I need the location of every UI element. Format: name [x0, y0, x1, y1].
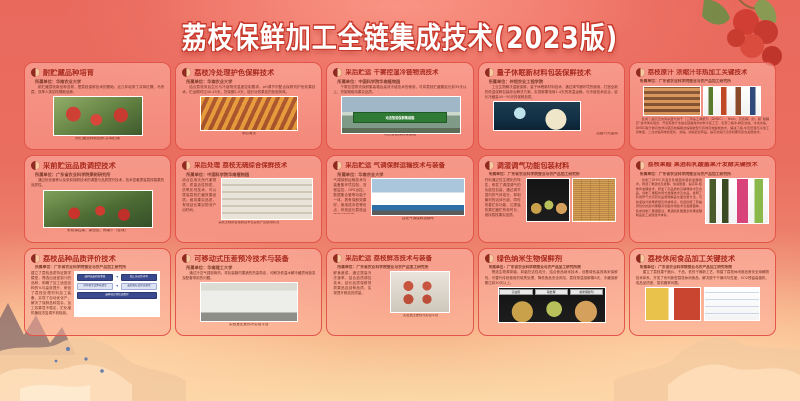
card-11-unit: 所属单位：华南理工大学: [186, 265, 315, 270]
card-6-header: 采后处理 荔枝无硫综合保鲜技术: [182, 161, 315, 170]
card-7-header: 采后贮运 气调保鲜运输技术与装备: [333, 161, 466, 170]
card-3-photo: [493, 101, 581, 131]
card-14-photo-right: [704, 287, 760, 321]
moon-icon: [31, 68, 40, 77]
card-9-title: 荔枝果醋 果酒和乳酸菌果汁发酵关键技术: [648, 162, 758, 168]
card-1-caption: 采后清洗: [242, 132, 256, 136]
card-4[interactable]: 荔枝原汁 浓缩汁非热加工关键技术 所属单位：广东省农业科学院蚕业与农产品加工研究…: [629, 62, 776, 150]
card-1-unit: 所属单位：华南农业大学: [186, 79, 315, 84]
card-13-description: 筛选生物源抑菌、抑菌兑活性成分，结合食品纳米技术，创基绿色高效纳米保鲜剂，可替代…: [485, 270, 618, 285]
card-10-body: 建立了荔枝品质特征数学模型，筛选出适宜制汁的品种，明确了加工适宜品种的%与高效提…: [31, 271, 164, 317]
card-9[interactable]: 荔枝果醋 果酒和乳酸菌果汁发酵关键技术 所属单位：广东省农业科学院蚕业与农产品加…: [629, 155, 776, 243]
card-7-title: 采后贮运 气调保鲜运输技术与装备: [345, 162, 445, 169]
card-13-title: 绿色纳米生物保鲜剂: [497, 255, 563, 263]
card-14-header: 荔枝休闲食品加工关键技术: [636, 254, 769, 263]
moon-icon: [485, 68, 494, 77]
card-0-photo: [53, 96, 143, 136]
poster-root: 荔枝保鲜加工全链集成技术(2023版) 耐贮藏品种培育 所属单位：华南农业大学 …: [0, 0, 800, 401]
card-10-flowchart: 品种及品质需求量 ➜ 加工适宜性评价 评价模型及体系建立 ➜ 品质指标及筛选量化…: [74, 271, 160, 317]
moon-icon: [31, 161, 40, 170]
card-14[interactable]: 荔枝休闲食品加工关键技术 所属单位：广东省农业科学院蚕业与农产品加工研究所院 建…: [629, 248, 776, 336]
card-10-title: 荔枝品种品质评价技术: [43, 255, 116, 263]
card-8-photo-left: [526, 178, 570, 222]
card-8-photo-right: [572, 178, 616, 222]
card-7[interactable]: 采后贮运 气调保鲜运输技术与装备 所属单位：华南农业大学 气调保鲜运输技术与装备…: [326, 155, 473, 243]
card-13-header: 绿色纳米生物保鲜剂: [485, 254, 618, 263]
card-9-photo: [705, 178, 769, 224]
card-0-media: 耐贮藏品种新品种-井岡红糯: [31, 95, 164, 141]
card-1-title: 荔枝冷处理护色保鲜技术: [194, 69, 274, 77]
card-8-description: 材料通过性生理化的特性，研发了调湿调气的功能性包装，通过调节湿内的气体成分，抑制…: [485, 178, 521, 220]
moon-icon: [636, 161, 645, 170]
card-6-unit: 所属单位：中国科学院华南植物园: [186, 172, 315, 177]
card-2-photo-wrap: 动态智能保鲜集装箱: [341, 96, 459, 132]
poster-title: 荔枝保鲜加工全链集成技术(2023版): [182, 15, 618, 57]
card-2-unit: 所属单位：中国科学院华南植物园: [337, 79, 466, 84]
card-11[interactable]: 可移动式压差预冷技术与装备 所属单位：华南理工大学 通过冷空气强制换热，将包装箱…: [175, 248, 322, 336]
card-6-description: 综合应用天然代谢物质、质量活性物质、抗氧化剂技术，可以提高荔枝贮藏效果品质，维持…: [182, 178, 216, 218]
card-5-unit: 所属单位：广东省农业科学院果树研究所: [35, 172, 164, 177]
card-7-body: 气调保鲜运输技术与装备集环境控制、流程监控、GPS远控、数据集合管等功能于一体，…: [333, 178, 466, 221]
card-10-description: 建立了荔枝品质特征数学模型，筛选出适宜制汁的品种，明确了加工适宜品种的%与高效提…: [31, 271, 71, 317]
card-0-caption: 耐贮藏品种新品种-井岡红糯: [75, 137, 119, 141]
card-5-caption: 采前调控果、果色佳、病果少（桂味）: [67, 229, 128, 233]
card-12[interactable]: 采后贮运 荔枝鲜冻技术与装备 所属单位：广东省农业科学院蚕业与农产品加工研究所 …: [326, 248, 473, 336]
card-9-description: 创制了DHOC风温及乳酸菌抑菌的发酵技术，筛选了果酒化及发酵，快速量菌，提高率-…: [636, 178, 702, 222]
card-13-sample-labels: 空白组 硫处理 纳米保鲜剂: [498, 289, 604, 295]
card-5-title: 采前贮运品质调控技术: [43, 162, 116, 170]
card-1[interactable]: 荔枝冷处理护色保鲜技术 所属单位：华南农业大学 结合荔枝采后生长与冷链物流温度控…: [175, 62, 322, 150]
card-10-unit: 所属单位：广东省农业科学院蚕业与农产品加工研究所: [35, 265, 164, 270]
card-12-description: 鲜食蔬菜，通过提高冷冻速率，结合品质调控技术，延长品质保鲜快损果品及延伸品质，实…: [333, 271, 371, 311]
card-8[interactable]: 调湿调气功能包装材料 所属单位：广东省农业科学院蚕业与农产品加工研究所 材料通过…: [478, 155, 625, 243]
card-3[interactable]: 量子休眠新材料包装保鲜技术 所属单位：仲恺农业工程学院 工业生物解决温度保鲜，量…: [478, 62, 625, 150]
card-3-caption: 活酸行光量周: [493, 132, 618, 136]
moon-icon: [333, 254, 342, 263]
card-0-header: 耐贮藏品种培育: [31, 68, 164, 77]
technology-card-grid: 耐贮藏品种培育 所属单位：华南农业大学 耐贮藏荔枝新品种选育，是荔枝保鲜技术的基…: [24, 62, 776, 336]
card-2-media: 动态智能保鲜集装箱 动态智能保鲜集装箱: [333, 95, 466, 137]
card-2-description: 干雾控湿物流保鲜集装箱及高效冷链技术的使用，可将荔枝贮藏期延长到35天以上，货架…: [333, 85, 466, 95]
flow-arrow-0-icon: ➜: [114, 274, 120, 281]
card-8-body: 材料通过性生理化的特性，研发了调湿调气的功能性包装，通过调节湿内的气体成分，抑制…: [485, 178, 618, 222]
card-12-photo: [390, 271, 450, 313]
moon-icon: [182, 254, 191, 263]
card-6-title: 采后处理 荔枝无硫综合保鲜技术: [194, 162, 287, 169]
card-13-photo-wrap: 空白组 硫处理 纳米保鲜剂: [498, 287, 604, 321]
card-4-description: 集成了超高压协同杀菌代谢干（三甲基乙烯聚剂（DMDC）、Nisin、高氧等）的，…: [636, 117, 769, 135]
card-4-unit: 所属单位：广东省农业科学院蚕业与农产品加工研究所: [640, 79, 769, 84]
card-7-media: 荔枝气调保鲜运输车: [369, 178, 466, 221]
card-0-unit: 所属单位：华南农业大学: [35, 79, 164, 84]
moon-icon: [31, 254, 40, 263]
card-9-unit: 所属单位：广东省农业科学院蚕业与农产品加工研究所: [640, 172, 769, 177]
nano-label-2: 纳米保鲜剂: [570, 289, 603, 295]
card-2[interactable]: 采后贮运 干雾控湿冷链物流技术 所属单位：中国科学院华南植物园 干雾控湿物流保鲜…: [326, 62, 473, 150]
card-10-header: 荔枝品种品质评价技术: [31, 254, 164, 263]
moon-icon: [182, 161, 191, 170]
card-7-photo: [371, 178, 465, 216]
card-3-description: 工业生物解决温度保鲜，量子休眠新材料技术，通过调节器环境的使用，打造全新的低温保…: [485, 85, 618, 100]
card-12-title: 采后贮运 荔枝鲜冻技术与装备: [345, 255, 432, 262]
card-14-media: [636, 287, 769, 321]
card-14-unit: 所属单位：广东省农业科学院蚕业与农产品加工研究所院: [640, 265, 769, 269]
card-4-media: [636, 86, 769, 116]
card-5-header: 采前贮运品质调控技术: [31, 161, 164, 170]
card-9-body: 创制了DHOC风温及乳酸菌抑菌的发酵技术，筛选了果酒化及发酵，快速量菌，提高率-…: [636, 178, 769, 224]
moon-icon: [485, 161, 494, 170]
card-4-photo-left: [643, 86, 701, 116]
card-8-header: 调湿调气功能包装材料: [485, 161, 618, 170]
card-4-title: 荔枝原汁 浓缩汁非热加工关键技术: [648, 69, 748, 76]
card-7-description: 气调保鲜运输技术与装备集环境控制、流程监控、GPS远控、数据集合管等功能于一体，…: [333, 178, 366, 214]
card-0[interactable]: 耐贮藏品种培育 所属单位：华南农业大学 耐贮藏荔枝新品种选育，是荔枝保鲜技术的基…: [24, 62, 171, 150]
card-11-description: 通过冷空气强制换热，将包装箱内果蔬的热量带走，可解决低温水解冷藏质地极变及配套带…: [182, 271, 315, 281]
card-2-banner-text: 动态智能保鲜集装箱: [386, 115, 415, 120]
card-3-header: 量子休眠新材料包装保鲜技术: [485, 68, 618, 77]
card-5-description: 通过优化营养以及采前保鲜技术的调整与品质提升技术，技术显著提高荔枝裂果的品质性。: [31, 178, 164, 188]
card-8-media: [524, 178, 618, 222]
card-1-description: 结合荔枝采后生长与冷链物流温度控制要求，pH调节剂配合保鲜剂护色效果技术，贮运期…: [182, 85, 315, 95]
card-11-photo: [200, 282, 298, 322]
nano-label-0: 空白组: [499, 289, 532, 295]
moon-icon: [333, 68, 342, 77]
card-8-title: 调湿调气功能包装材料: [497, 162, 570, 170]
card-3-media: 活酸行光量周: [485, 100, 618, 136]
card-12-caption: 实验室压差预冷实验平台: [403, 314, 438, 318]
card-9-header: 荔枝果醋 果酒和乳酸菌果汁发酵关键技术: [636, 161, 769, 170]
flow-box-0: 品种及品质需求量: [77, 274, 113, 281]
card-6-body: 综合应用天然代谢物质、质量活性物质、抗氧化剂技术，可以提高荔枝贮藏效果品质，维持…: [182, 178, 315, 220]
card-6-media: [219, 178, 315, 220]
flow-box-3: 品质指标及筛选量化: [121, 283, 157, 290]
card-5[interactable]: 采前贮运品质调控技术 所属单位：广东省农业科学院果树研究所 通过优化营养以及采前…: [24, 155, 171, 243]
card-11-media: 实验室压差预冷实验平台: [182, 281, 315, 327]
flow-box-2: 评价模型及体系建立: [77, 283, 113, 290]
nano-label-1: 硫处理: [535, 289, 568, 295]
moon-icon: [636, 254, 645, 263]
card-0-description: 耐贮藏荔枝新品种选育，是荔枝保鲜技术的基础。近几年培育了井岡红糯、马贵荔、双季人…: [31, 85, 164, 95]
card-2-photo-banner: 动态智能保鲜集装箱: [353, 112, 447, 123]
card-11-caption: 实验室压差预冷实验平台: [229, 323, 269, 327]
poster-title-container: 荔枝保鲜加工全链集成技术(2023版): [0, 18, 800, 54]
card-5-media: 采前调控果、果色佳、病果少（桂味）: [31, 188, 164, 233]
card-14-description: 建立了荔枝果干脆片、干品、低热干燥新工艺，构建了荔枝休闲食品食安全用解脱技术体系…: [636, 270, 769, 285]
card-13-media: 空白组 硫处理 纳米保鲜剂: [485, 286, 618, 321]
card-9-media: [705, 178, 769, 224]
card-14-photo-left: [645, 287, 701, 321]
card-1-header: 荔枝冷处理护色保鲜技术: [182, 68, 315, 77]
card-3-title: 量子休眠新材料包装保鲜技术: [497, 69, 592, 77]
card-11-title: 可移动式压差预冷技术与装备: [194, 255, 289, 263]
card-0-title: 耐贮藏品种培育: [43, 69, 94, 77]
moon-icon: [636, 68, 645, 77]
card-12-body: 鲜食蔬菜，通过提高冷冻速率，结合品质调控技术，延长品质保鲜快损果品及延伸品质，实…: [333, 271, 466, 318]
card-12-media: 实验室压差预冷实验平台: [374, 271, 466, 318]
flow-box-1: 加工适宜性评价: [121, 274, 157, 281]
card-11-header: 可移动式压差预冷技术与装备: [182, 254, 315, 263]
moon-icon: [485, 254, 494, 263]
flow-arrow-1-icon: ➜: [114, 283, 120, 290]
flow-box-4: 品种适宜性优选推荐: [77, 292, 157, 299]
card-4-photo-right: [703, 86, 761, 116]
card-6[interactable]: 采后处理 荔枝无硫综合保鲜技术 所属单位：中国科学院华南植物园 综合应用天然代谢…: [175, 155, 322, 243]
card-7-unit: 所属单位：华南农业大学: [337, 172, 466, 177]
moon-icon: [333, 161, 342, 170]
card-2-title: 采后贮运 干雾控湿冷链物流技术: [345, 69, 438, 76]
card-3-unit: 所属单位：仲恺农业工程学院: [489, 79, 618, 84]
card-10[interactable]: 荔枝品种品质评价技术 所属单位：广东省农业科学院蚕业与农产品加工研究所 建立了荔…: [24, 248, 171, 336]
card-5-photo: [43, 190, 153, 228]
card-4-header: 荔枝原汁 浓缩汁非热加工关键技术: [636, 68, 769, 77]
card-7-caption: 荔枝气调保鲜运输车: [402, 217, 434, 221]
card-13[interactable]: 绿色纳米生物保鲜剂 所属单位：广东省农业科学院蚕业与农产品加工研究所院 筛选生物…: [478, 248, 625, 336]
card-13-unit: 所属单位：广东省农业科学院蚕业与农产品加工研究所院: [489, 265, 618, 269]
card-1-photo: [200, 96, 298, 131]
card-12-unit: 所属单位：广东省农业科学院蚕业与农产品加工研究所: [337, 265, 466, 270]
moon-icon: [182, 68, 191, 77]
card-14-title: 荔枝休闲食品加工关键技术: [648, 255, 735, 263]
card-6-caption: 荔枝无硫综合保鲜技术在荔枝产区使用情况: [182, 221, 315, 225]
card-12-header: 采后贮运 荔枝鲜冻技术与装备: [333, 254, 466, 263]
card-8-unit: 所属单位：广东省农业科学院蚕业与农产品加工研究所: [489, 172, 618, 177]
card-6-photo: [221, 178, 313, 220]
card-2-header: 采后贮运 干雾控湿冷链物流技术: [333, 68, 466, 77]
card-1-media: 采后清洗: [182, 95, 315, 136]
